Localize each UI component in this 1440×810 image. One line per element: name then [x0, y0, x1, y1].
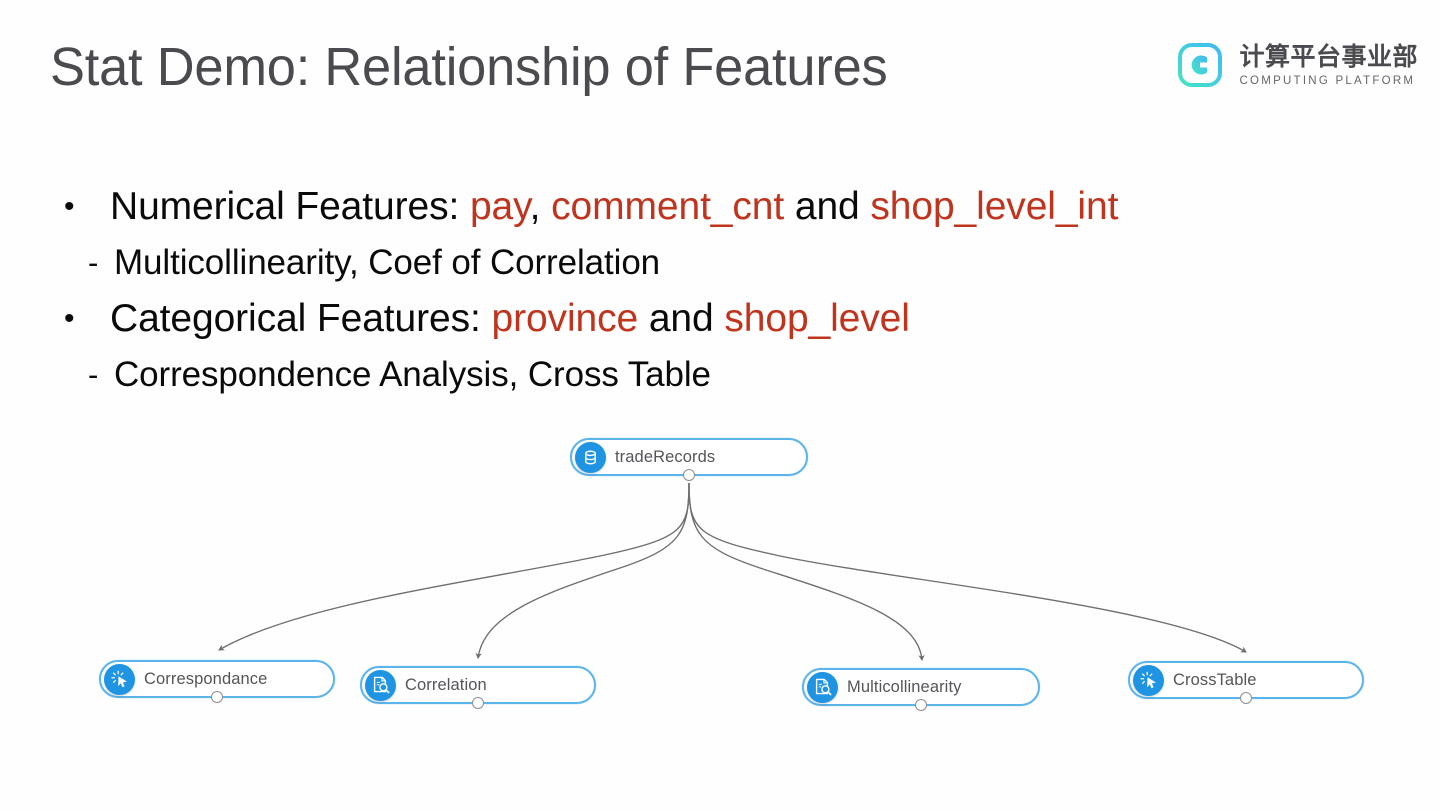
page-title: Stat Demo: Relationship of Features: [50, 34, 888, 100]
bullet-item: - Multicollinearity, Coef of Correlation: [56, 235, 1356, 290]
bullet-text: Numerical Features: pay, comment_cnt and…: [110, 178, 1118, 235]
bullet-run-keyword: comment_cnt: [551, 185, 784, 228]
bullet-run: Categorical Features:: [110, 297, 491, 340]
bullet-run: Numerical Features:: [110, 185, 470, 228]
brand-logo: 计算平台事业部 COMPUTING PLATFORM: [1170, 34, 1418, 96]
cursor-select-icon: [104, 664, 135, 695]
edge-traderecords-correspondance: [219, 483, 689, 650]
computing-platform-chip-icon: [1170, 36, 1230, 94]
bullet-run-keyword: province: [491, 297, 638, 340]
edge-traderecords-crosstable: [689, 483, 1246, 652]
cursor-select-icon: [1133, 665, 1164, 696]
diagram-node-label: tradeRecords: [615, 448, 715, 467]
diagram-node-crosstable[interactable]: CrossTable: [1128, 661, 1364, 699]
brand-logo-text: 计算平台事业部 COMPUTING PLATFORM: [1239, 42, 1418, 89]
diagram-node-traderecords[interactable]: tradeRecords: [570, 438, 808, 476]
node-out-port[interactable]: [683, 469, 695, 481]
node-out-port[interactable]: [472, 697, 484, 709]
edge-traderecords-multicollinearity: [689, 483, 922, 660]
document-search-icon: [807, 672, 838, 703]
bullet-run-keyword: shop_level: [724, 297, 909, 340]
bullet-text: Correspondence Analysis, Cross Table: [114, 347, 711, 402]
diagram-node-label: Multicollinearity: [847, 678, 962, 697]
node-out-port[interactable]: [1240, 692, 1252, 704]
brand-name-cn: 计算平台事业部: [1239, 42, 1418, 71]
document-search-icon: [365, 670, 396, 701]
flow-diagram: tradeRecords Correspondance: [0, 418, 1440, 748]
bullet-list: • Numerical Features: pay, comment_cnt a…: [56, 178, 1356, 402]
bullet-marker: -: [56, 235, 114, 290]
slide-canvas: Stat Demo: Relationship of Features: [0, 0, 1440, 810]
diagram-node-correspondance[interactable]: Correspondance: [99, 660, 335, 698]
database-icon: [575, 442, 606, 473]
bullet-marker: •: [56, 178, 110, 235]
diagram-node-multicollinearity[interactable]: Multicollinearity: [802, 668, 1040, 706]
bullet-item: - Correspondence Analysis, Cross Table: [56, 347, 1356, 402]
bullet-marker: •: [56, 290, 110, 347]
bullet-item: • Numerical Features: pay, comment_cnt a…: [56, 178, 1356, 235]
bullet-marker: -: [56, 347, 114, 402]
bullet-run: ,: [530, 185, 551, 228]
bullet-text: Categorical Features: province and shop_…: [110, 290, 910, 347]
bullet-run-keyword: shop_level_int: [870, 185, 1118, 228]
bullet-run-keyword: pay: [470, 185, 530, 228]
diagram-node-label: CrossTable: [1173, 671, 1257, 690]
bullet-item: • Categorical Features: province and sho…: [56, 290, 1356, 347]
edge-traderecords-correlation: [478, 483, 689, 658]
node-out-port[interactable]: [915, 699, 927, 711]
brand-name-en: COMPUTING PLATFORM: [1239, 73, 1418, 89]
diagram-node-label: Correspondance: [144, 670, 267, 689]
diagram-node-label: Correlation: [405, 676, 487, 695]
diagram-node-correlation[interactable]: Correlation: [360, 666, 596, 704]
bullet-run: and: [784, 185, 870, 228]
node-out-port[interactable]: [211, 691, 223, 703]
bullet-run: and: [638, 297, 724, 340]
bullet-text: Multicollinearity, Coef of Correlation: [114, 235, 660, 290]
